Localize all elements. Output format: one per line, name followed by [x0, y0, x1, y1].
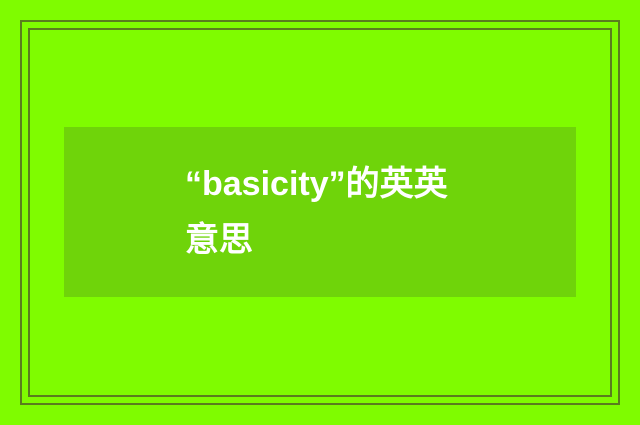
title-panel: “basicity”的英英意思 [64, 127, 576, 297]
page-canvas: “basicity”的英英意思 [0, 0, 640, 425]
page-title: “basicity”的英英意思 [185, 156, 455, 268]
